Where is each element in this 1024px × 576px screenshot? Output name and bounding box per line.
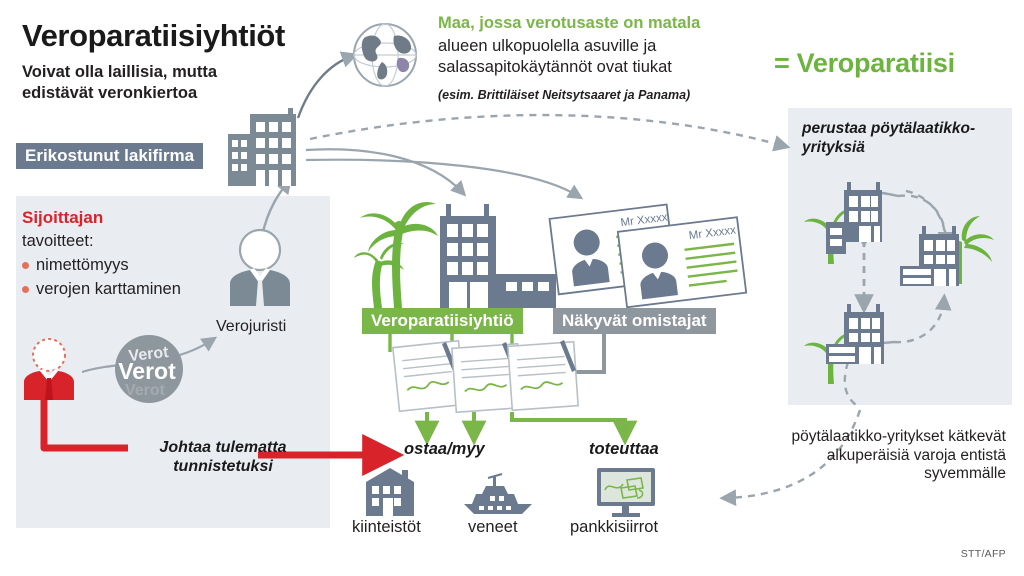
bank-transfer-monitor-icon	[597, 468, 659, 518]
bullet-dot-icon	[22, 286, 29, 293]
anonymous-investor-icon	[18, 338, 80, 400]
investor-goal-item: verojen karttaminen	[22, 280, 181, 299]
shell-companies-description: pöytälaatikko-yritykset kätkevät alkuper…	[770, 428, 1006, 484]
bullet-dot-icon	[22, 262, 29, 269]
haven-callout-note: (esim. Brittiläiset Neitsytsaaret ja Pan…	[438, 88, 690, 102]
id-cards-icon: Mr Xxxxx Mr Xxxxx	[548, 196, 754, 310]
taxes-circle-icon: Verot Verot Verot	[112, 332, 186, 406]
label-tax-lawyer: Verojuristi	[216, 318, 286, 336]
label-bank-transfers: pankkisiirrot	[570, 518, 658, 537]
label-haven-company: Veroparatiisiyhtiö	[362, 308, 523, 334]
haven-callout-body: alueen ulkopuolella asuville ja salassap…	[438, 36, 768, 79]
source-credit: STT/AFP	[900, 548, 1006, 560]
law-firm-building-icon	[228, 106, 312, 186]
arrow-lawfirm-to-owners	[306, 160, 578, 196]
label-boats: veneet	[468, 518, 518, 537]
shell-company-3	[804, 304, 884, 384]
shell-companies-icons	[800, 178, 1012, 384]
house-icon	[364, 468, 416, 516]
investor-subheading: tavoitteet:	[22, 232, 94, 251]
taxes-circle-label-main: Verot	[118, 358, 176, 384]
label-founds-shell-companies: perustaa pöytälaatikko-yrityksiä	[802, 120, 1024, 158]
page-subtitle: Voivat olla laillisia, mutta edistävät v…	[22, 62, 292, 104]
palm-tree-icon	[354, 202, 438, 308]
yacht-icon	[462, 474, 534, 516]
arrow-lawfirm-to-shellpanel	[310, 115, 784, 146]
shell-company-1	[804, 182, 882, 264]
globe-icon	[352, 22, 418, 88]
document-3	[508, 340, 578, 410]
investor-heading: Sijoittajan	[22, 208, 103, 228]
signed-documents-icon	[396, 336, 612, 418]
arrow-lawfirm-to-haven-company	[306, 149, 462, 192]
equals-tax-haven-label: = Veroparatiisi	[774, 48, 955, 79]
haven-office-building-icon	[440, 204, 556, 308]
investor-goal-label: verojen karttaminen	[36, 280, 181, 299]
label-executes: toteuttaa	[589, 440, 659, 459]
tax-lawyer-icon	[222, 228, 298, 306]
taxes-circle-label-faint: Verot	[125, 382, 166, 399]
label-leads-unidentified: Johtaa tulematta tunnistetuksi	[128, 438, 318, 476]
label-real-estate: kiinteistöt	[352, 518, 421, 537]
label-law-firm: Erikostunut lakifirma	[16, 143, 203, 169]
investor-goal-item: nimettömyys	[22, 256, 129, 275]
tax-haven-company-icon	[356, 192, 572, 308]
page-title: Veroparatiisiyhtiöt	[22, 18, 285, 54]
id-card-front: Mr Xxxxx	[618, 217, 746, 307]
infographic-canvas: Verot Verot Verot	[0, 0, 1024, 576]
label-buys-sells: ostaa/myy	[404, 440, 485, 459]
investor-goal-label: nimettömyys	[36, 256, 129, 275]
label-visible-owners: Näkyvät omistajat	[553, 308, 716, 334]
shell-company-2	[900, 216, 994, 286]
haven-callout-heading: Maa, jossa verotusaste on matala	[438, 14, 700, 34]
